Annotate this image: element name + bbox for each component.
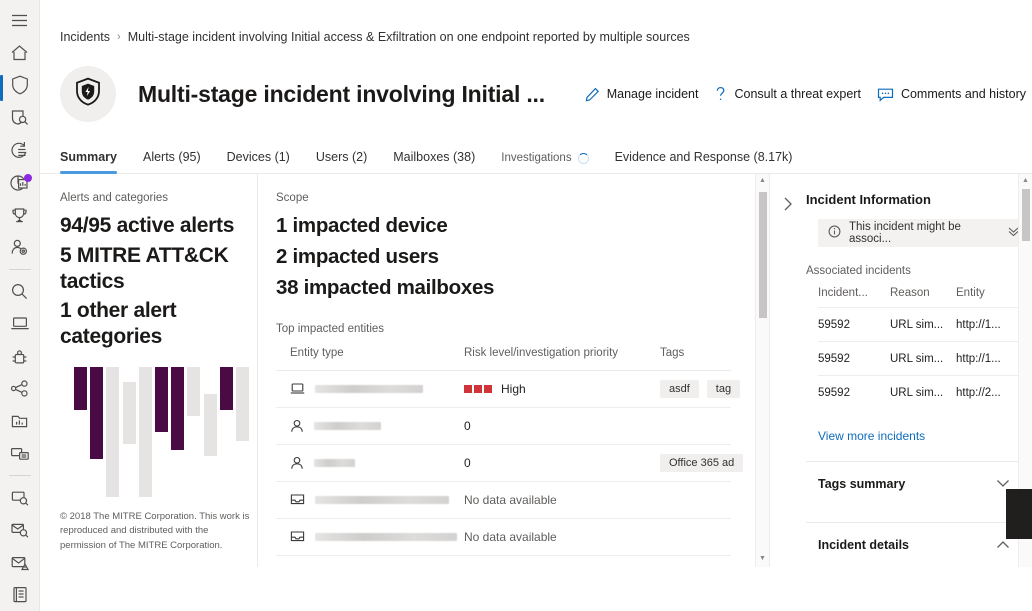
risk-indicator: [464, 382, 492, 396]
table-row[interactable]: 0Office 365 ad: [276, 445, 731, 482]
share-nodes-icon: [10, 379, 29, 398]
table-row[interactable]: No data available: [276, 519, 731, 556]
rail-item-threat-analytics[interactable]: [0, 167, 40, 200]
alerts-and-categories-panel: Alerts and categories 94/95 active alert…: [40, 174, 258, 567]
associated-incidents-table: Incident... Reason Entity 59592URL sim..…: [818, 287, 1028, 409]
tab-bar: Summary Alerts (95) Devices (1) Users (2…: [40, 144, 1032, 174]
column-header-tags[interactable]: Tags: [660, 347, 731, 359]
table-row[interactable]: 0: [276, 408, 731, 445]
question-mark-icon: [714, 86, 727, 102]
bug-icon: [10, 347, 29, 366]
top-impacted-entities-label: Top impacted entities: [276, 323, 769, 335]
rail-item-action-center[interactable]: [0, 134, 40, 167]
mitre-attribution: © 2018 The MITRE Corporation. This work …: [60, 510, 252, 553]
notification-badge: [24, 174, 32, 182]
tab-alerts[interactable]: Alerts (95): [130, 144, 214, 173]
column-header-entity-type[interactable]: Entity type: [276, 347, 464, 359]
scrollbar-middle-column[interactable]: ▲ ▼: [755, 174, 769, 567]
tab-evidence-label: Evidence and Response (8.17k): [615, 150, 793, 164]
associated-incident-row[interactable]: 59592URL sim...http://2...: [818, 375, 1028, 409]
column-header-incident[interactable]: Incident...: [818, 287, 890, 299]
chart-bar[interactable]: [139, 367, 152, 497]
main-content: Incidents › Multi-stage incident involvi…: [40, 0, 1032, 611]
chart-bar[interactable]: [204, 394, 217, 456]
tag-pill[interactable]: asdf: [660, 380, 699, 398]
risk-label: 0: [464, 419, 471, 433]
stat-active-alerts: 94/95 active alerts: [60, 213, 243, 239]
rail-item-incidents[interactable]: [0, 69, 40, 102]
tag-pill[interactable]: tag: [707, 380, 740, 398]
person-gear-icon: [10, 238, 29, 257]
table-row[interactable]: No data available: [276, 482, 731, 519]
chart-bar[interactable]: [123, 382, 136, 444]
tab-devices-label: Devices (1): [227, 150, 290, 164]
tab-summary[interactable]: Summary: [60, 144, 130, 173]
shield-bolt-icon: [75, 77, 101, 111]
rail-item-endpoints[interactable]: [0, 481, 40, 514]
stat-impacted-users: 2 impacted users: [276, 244, 769, 269]
user-icon: [290, 419, 304, 433]
incident-association-message[interactable]: This incident might be associ...: [818, 219, 1028, 247]
shield-icon: [11, 75, 29, 95]
entity-name-redacted: [315, 533, 457, 541]
avatar: [60, 66, 116, 122]
folder-chart-icon: [10, 412, 29, 431]
mail-alert-icon: [10, 553, 30, 572]
incident-information-panel: Incident Information This incident might…: [770, 174, 1032, 567]
comments-and-history-label: Comments and history: [901, 87, 1026, 101]
manage-incident-label: Manage incident: [607, 87, 699, 101]
tab-investigations-label: Investigations: [501, 152, 571, 164]
chart-bar[interactable]: [155, 367, 168, 432]
stat-impacted-devices: 1 impacted device: [276, 213, 769, 238]
rail-item-reports[interactable]: [0, 405, 40, 438]
chevron-right-icon: [781, 196, 795, 567]
scope-panel: Scope 1 impacted device 2 impacted users…: [258, 174, 770, 567]
incident-header: Multi-stage incident involving Initial .…: [40, 44, 1032, 122]
column-header-risk-level[interactable]: Risk level/investigation priority: [464, 347, 660, 359]
tab-devices[interactable]: Devices (1): [214, 144, 303, 173]
mail-search-icon: [10, 520, 30, 539]
mailbox-icon: [290, 530, 305, 543]
hamburger-icon: [11, 14, 28, 27]
scope-section-label: Scope: [276, 192, 769, 204]
rail-divider-2: [9, 475, 31, 476]
associated-incidents-label: Associated incidents: [806, 265, 1028, 277]
entity-name-redacted: [314, 459, 355, 467]
associated-incident-reason: URL sim...: [890, 387, 956, 399]
column-header-reason[interactable]: Reason: [890, 287, 956, 299]
table-row[interactable]: Highasdftag: [276, 371, 731, 408]
header-actions: Manage incident Consult a threat expert …: [585, 86, 1032, 102]
top-impacted-entities-table: Entity type Risk level/investigation pri…: [276, 347, 731, 556]
incident-association-text: This incident might be associ...: [849, 221, 999, 245]
tab-users[interactable]: Users (2): [303, 144, 380, 173]
risk-label: 0: [464, 456, 471, 470]
breadcrumb-current: Multi-stage incident involving Initial a…: [128, 30, 690, 44]
associated-incident-reason: URL sim...: [890, 353, 956, 365]
incident-information-body: Incident Information This incident might…: [806, 174, 1032, 567]
tags-summary-label: Tags summary: [806, 477, 905, 491]
mitre-attack-chart: [74, 364, 254, 494]
associated-incident-reason: URL sim...: [890, 319, 956, 331]
page-title: Multi-stage incident involving Initial .…: [138, 81, 545, 108]
consult-threat-expert-label: Consult a threat expert: [734, 87, 860, 101]
stat-other-categories: 1 other alert categories: [60, 298, 243, 350]
view-more-incidents-link[interactable]: View more incidents: [818, 429, 925, 443]
alerts-section-label: Alerts and categories: [60, 192, 243, 204]
tab-summary-label: Summary: [60, 150, 117, 164]
pencil-icon: [585, 87, 600, 102]
entity-name-redacted: [315, 496, 449, 504]
navigation-rail: [0, 0, 40, 611]
associated-incident-id: 59592: [818, 319, 890, 331]
tab-mailboxes-label: Mailboxes (38): [393, 150, 475, 164]
tab-mailboxes[interactable]: Mailboxes (38): [380, 144, 488, 173]
chart-bar[interactable]: [171, 367, 184, 450]
device-config-icon: [10, 444, 30, 463]
incident-information-title: Incident Information: [806, 192, 1028, 207]
rail-item-policies[interactable]: [0, 546, 40, 579]
risk-label: No data available: [464, 493, 557, 507]
scroll-up-arrow-icon[interactable]: ▲: [759, 174, 766, 187]
chart-bar[interactable]: [220, 367, 233, 410]
home-icon: [10, 44, 29, 62]
scroll-down-arrow-icon[interactable]: ▼: [759, 552, 766, 565]
table-header-row: Entity type Risk level/investigation pri…: [276, 347, 731, 371]
breadcrumb: Incidents › Multi-stage incident involvi…: [40, 0, 1032, 44]
tab-investigations[interactable]: Investigations: [488, 146, 601, 173]
rail-item-learning-hub[interactable]: [0, 232, 40, 265]
loading-spinner-icon: [578, 153, 589, 164]
monitor-search-icon: [10, 488, 30, 507]
tab-alerts-label: Alerts (95): [143, 150, 201, 164]
rail-divider: [9, 269, 31, 270]
hamburger-menu-button[interactable]: [0, 4, 40, 37]
rail-item-home[interactable]: [0, 37, 40, 70]
scrollbar-thumb[interactable]: [759, 192, 767, 318]
rail-item-search[interactable]: [0, 275, 40, 308]
tag-pill[interactable]: Office 365 ad: [660, 454, 743, 472]
history-icon: [10, 141, 29, 160]
chart-bar[interactable]: [90, 367, 103, 459]
comment-icon: [877, 87, 894, 102]
chart-bar[interactable]: [106, 367, 119, 497]
rail-item-partners[interactable]: [0, 373, 40, 406]
tooltip-popup: [1006, 489, 1032, 539]
rail-item-hunting[interactable]: [0, 102, 40, 135]
rail-item-email-search[interactable]: [0, 513, 40, 546]
associated-incidents-header: Incident... Reason Entity: [818, 287, 1028, 307]
chevron-right-icon: ›: [117, 31, 121, 43]
scroll-up-arrow-icon[interactable]: ▲: [1022, 174, 1029, 187]
rail-item-configuration[interactable]: [0, 438, 40, 471]
entity-name-redacted: [315, 385, 423, 393]
rail-item-devices[interactable]: [0, 308, 40, 341]
associated-incident-row[interactable]: 59592URL sim...http://1...: [818, 307, 1028, 341]
rail-item-audit-log[interactable]: [0, 578, 40, 611]
associated-incident-row[interactable]: 59592URL sim...http://1...: [818, 341, 1028, 375]
entity-name-redacted: [314, 422, 381, 430]
magnify-doc-icon: [10, 108, 29, 127]
search-icon: [10, 282, 29, 301]
stat-mitre-tactics: 5 MITRE ATT&CK tactics: [60, 243, 243, 295]
risk-label: No data available: [464, 530, 557, 544]
scrollbar-thumb[interactable]: [1022, 189, 1030, 241]
manage-incident-button[interactable]: Manage incident: [585, 87, 699, 102]
incident-details-label: Incident details: [806, 538, 909, 552]
chart-bar[interactable]: [187, 367, 200, 416]
chart-bar[interactable]: [74, 367, 87, 410]
comments-and-history-button[interactable]: Comments and history: [877, 87, 1026, 102]
tab-users-label: Users (2): [316, 150, 367, 164]
summary-columns: Alerts and categories 94/95 active alert…: [40, 174, 1032, 567]
rail-item-vulnerability[interactable]: [0, 340, 40, 373]
stat-impacted-mailboxes: 38 impacted mailboxes: [276, 275, 769, 300]
associated-incident-id: 59592: [818, 387, 890, 399]
user-icon: [290, 456, 304, 470]
associated-incident-id: 59592: [818, 353, 890, 365]
list-doc-icon: [11, 585, 29, 604]
rail-item-secure-score[interactable]: [0, 199, 40, 232]
risk-label: High: [501, 382, 526, 396]
tab-evidence-and-response[interactable]: Evidence and Response (8.17k): [602, 144, 806, 173]
mailbox-icon: [290, 493, 305, 506]
device-icon: [290, 382, 305, 395]
incident-details-section[interactable]: Incident details: [806, 523, 1028, 567]
app-root: Incidents › Multi-stage incident involvi…: [0, 0, 1032, 611]
tags-summary-section[interactable]: Tags summary: [806, 462, 1028, 506]
chart-bar[interactable]: [236, 367, 249, 441]
consult-threat-expert-button[interactable]: Consult a threat expert: [714, 86, 860, 102]
breadcrumb-root[interactable]: Incidents: [60, 30, 110, 44]
collapse-panel-button[interactable]: [770, 174, 806, 567]
laptop-icon: [10, 315, 30, 332]
trophy-icon: [10, 206, 29, 225]
info-icon: [828, 225, 841, 241]
